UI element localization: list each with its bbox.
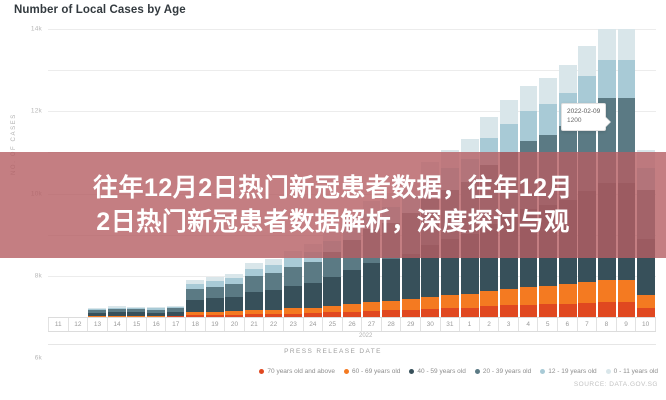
x-axis-tick-label: 7 <box>578 318 598 331</box>
bar-segment <box>520 287 538 305</box>
x-axis-tick-label: 11 <box>48 318 69 331</box>
x-axis-tick-label: 23 <box>284 318 304 331</box>
y-axis-tick-label: 6k <box>35 355 42 362</box>
x-axis-tick-label: 27 <box>362 318 382 331</box>
x-axis-tick-label: 20 <box>225 318 245 331</box>
bar-segment <box>441 295 459 308</box>
bar-segment <box>461 294 479 308</box>
bar-segment <box>637 295 655 308</box>
bar-segment <box>539 104 557 135</box>
bar-segment <box>265 290 283 310</box>
bar-segment <box>559 304 577 317</box>
bar-segment <box>225 284 243 297</box>
x-axis-tick-label: 19 <box>206 318 226 331</box>
bar-segment <box>598 302 616 317</box>
bar-segment <box>500 305 518 317</box>
bar-segment <box>245 269 263 276</box>
overlay-banner: 往年12月2日热门新冠患者数据，往年12月 2日热门新冠患者数据解析，深度探讨与… <box>0 152 666 258</box>
x-axis-tick-label: 12 <box>69 318 89 331</box>
x-axis-tick-label: 15 <box>127 318 147 331</box>
bar-segment <box>539 78 557 104</box>
x-axis-year-band: 2022 <box>48 333 656 345</box>
legend-item-label: 0 - 11 years old <box>614 368 658 375</box>
bar-segment <box>284 286 302 308</box>
x-axis-tick-label: 4 <box>519 318 539 331</box>
legend-item-label: 20 - 39 years old <box>483 368 531 375</box>
x-axis-tick-label: 25 <box>323 318 343 331</box>
bar-segment <box>520 86 538 111</box>
legend-item[interactable]: 40 - 59 years old <box>409 368 465 375</box>
bar-segment <box>245 292 263 310</box>
bar-segment <box>618 60 636 98</box>
x-axis-tick-label: 14 <box>108 318 128 331</box>
x-axis-tick-label: 28 <box>382 318 402 331</box>
bar-segment <box>598 280 616 302</box>
legend-color-dot-icon <box>475 369 480 374</box>
x-axis-tick-label: 24 <box>304 318 324 331</box>
x-axis-tick-label: 9 <box>617 318 637 331</box>
bar-segment <box>421 309 439 317</box>
x-axis-year-label: 2022 <box>359 333 372 339</box>
legend-item-label: 12 - 19 years old <box>548 368 596 375</box>
y-axis-tick-label: 14k <box>31 26 42 33</box>
bar-segment <box>363 302 381 311</box>
x-axis-tick-label: 18 <box>186 318 206 331</box>
bar-segment <box>500 289 518 306</box>
bar-segment <box>480 117 498 139</box>
bar-segment <box>578 282 596 303</box>
x-axis-title: PRESS RELEASE DATE <box>0 348 666 355</box>
bar-segment <box>402 254 420 300</box>
x-axis-tick-label: 1 <box>460 318 480 331</box>
source-attribution: SOURCE: DATA.GOV.SG <box>574 381 658 388</box>
x-axis-tick-label: 3 <box>499 318 519 331</box>
bar-segment <box>618 302 636 317</box>
overlay-headline-line-2: 2日热门新冠患者数据解析，深度探讨与观 <box>96 205 569 240</box>
legend-color-dot-icon <box>259 369 264 374</box>
bar-segment <box>382 310 400 317</box>
legend-item-label: 70 years old and above <box>267 368 335 375</box>
bar-segment <box>206 287 224 299</box>
bar-segment <box>284 267 302 286</box>
bar-segment <box>539 304 557 317</box>
bar-segment <box>225 297 243 312</box>
legend-item[interactable]: 0 - 11 years old <box>606 368 658 375</box>
chart-tooltip: 2022-02-09 1200 <box>561 103 606 131</box>
bar-segment <box>304 262 322 283</box>
bar-segment <box>284 258 302 267</box>
bar-segment <box>637 308 655 317</box>
x-axis-tick-label: 6 <box>558 318 578 331</box>
chart-legend: 70 years old and above60 - 69 years old4… <box>0 368 658 375</box>
x-axis-tick-label: 8 <box>597 318 617 331</box>
bar-segment <box>265 265 283 273</box>
bar-segment <box>421 297 439 309</box>
x-axis-tick-label: 29 <box>401 318 421 331</box>
bar-segment <box>304 283 322 307</box>
bar-segment <box>323 277 341 306</box>
legend-color-dot-icon <box>606 369 611 374</box>
bar-segment <box>186 300 204 313</box>
bar-segment <box>559 284 577 303</box>
bar-segment <box>578 46 596 75</box>
legend-color-dot-icon <box>540 369 545 374</box>
x-axis-tick-label: 13 <box>88 318 108 331</box>
page-title: Number of Local Cases by Age <box>14 4 186 16</box>
x-axis-tick-label: 17 <box>166 318 186 331</box>
bar-segment <box>618 29 636 60</box>
x-axis-tick-label: 16 <box>147 318 167 331</box>
bar-segment <box>480 306 498 317</box>
legend-color-dot-icon <box>344 369 349 374</box>
legend-item[interactable]: 12 - 19 years old <box>540 368 596 375</box>
bar-segment <box>461 308 479 317</box>
x-axis-tick-label: 5 <box>538 318 558 331</box>
bar-segment <box>402 299 420 309</box>
bar-segment <box>520 305 538 317</box>
x-axis-tick-label: 10 <box>636 318 656 331</box>
legend-item-label: 60 - 69 years old <box>352 368 400 375</box>
y-axis-tick-label: 12k <box>31 108 42 115</box>
bar-segment <box>598 60 616 98</box>
bar-segment <box>441 308 459 317</box>
x-axis-tick-label: 26 <box>343 318 363 331</box>
tooltip-date: 2022-02-09 <box>567 107 600 116</box>
x-axis-tick-label: 30 <box>421 318 441 331</box>
x-axis-tick-label: 21 <box>245 318 265 331</box>
legend-item[interactable]: 60 - 69 years old <box>344 368 400 375</box>
legend-item[interactable]: 20 - 39 years old <box>475 368 531 375</box>
bar-segment <box>598 29 616 60</box>
bar-segment <box>186 289 204 300</box>
bar-segment <box>618 280 636 302</box>
bar-segment <box>500 124 518 152</box>
y-axis-tick-label: 8k <box>35 272 42 279</box>
bar-segment <box>402 310 420 317</box>
chart-screenshot: Number of Local Cases by Age NO. OF CASE… <box>0 0 666 400</box>
bar-segment <box>480 291 498 306</box>
bar-segment <box>363 263 381 302</box>
bar-segment <box>265 273 283 290</box>
legend-item[interactable]: 70 years old and above <box>259 368 335 375</box>
bar-segment <box>559 65 577 92</box>
bar-segment <box>578 303 596 317</box>
tooltip-value: 1200 <box>567 116 600 125</box>
x-axis-ticks: 1112131415161718192021222324252627282930… <box>48 317 656 332</box>
x-axis-tick-label: 22 <box>264 318 284 331</box>
bar-segment <box>382 301 400 310</box>
bar-segment <box>520 111 538 141</box>
bar-segment <box>206 298 224 312</box>
bar-segment <box>343 270 361 304</box>
bar-segment <box>500 100 518 124</box>
x-axis-tick-label: 2 <box>480 318 500 331</box>
legend-item-label: 40 - 59 years old <box>417 368 465 375</box>
bar-segment <box>245 276 263 292</box>
bar-segment <box>382 259 400 301</box>
overlay-headline-line-1: 往年12月2日热门新冠患者数据，往年12月 <box>93 171 573 206</box>
bar-segment <box>539 286 557 304</box>
legend-color-dot-icon <box>409 369 414 374</box>
bar-segment <box>343 304 361 312</box>
x-axis-tick-label: 31 <box>441 318 461 331</box>
